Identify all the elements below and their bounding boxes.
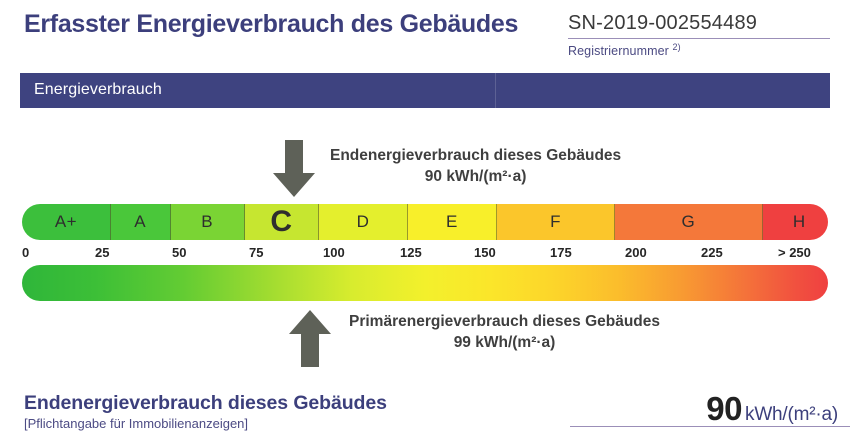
- footer-underline: [570, 426, 850, 427]
- energy-class-segment-g: G: [615, 204, 763, 240]
- scale-tick-label: 200: [625, 245, 647, 260]
- energy-class-letter: A+: [55, 212, 77, 232]
- energy-class-letter: C: [270, 205, 292, 239]
- section-header-label: Energieverbrauch: [34, 81, 162, 99]
- scale-tick-label: 100: [323, 245, 345, 260]
- section-band-divider: [495, 73, 496, 108]
- scale-tick-label: > 250: [778, 245, 811, 260]
- registration-number-label-text: Registriernummer: [568, 44, 669, 58]
- energy-class-segment-aplus: A+: [22, 204, 111, 240]
- scale-tick-label: 75: [249, 245, 263, 260]
- footer-value-block: 90kWh/(m²·a): [560, 390, 838, 428]
- page-title: Erfasster Energieverbrauch des Gebäudes: [24, 10, 518, 39]
- arrow-down-icon: [272, 140, 316, 198]
- energy-class-letter: H: [793, 212, 806, 232]
- section-header-band: Energieverbrauch: [20, 73, 830, 108]
- registration-number-block: SN-2019-002554489 Registriernummer 2): [568, 12, 836, 58]
- energy-class-scale: A+ABCDEFGH: [22, 204, 828, 240]
- energy-class-segment-f: F: [497, 204, 615, 240]
- primary-energy-annotation-value: 99 kWh/(m²·a): [349, 333, 660, 354]
- registration-number-underline: [568, 38, 830, 39]
- footer-value-number: 90: [706, 390, 742, 427]
- scale-tick-label: 175: [550, 245, 572, 260]
- scale-tick-label: 50: [172, 245, 186, 260]
- energy-class-segment-h: H: [763, 204, 828, 240]
- scale-tick-label: 0: [22, 245, 29, 260]
- footer-value-unit: kWh/(m²·a): [745, 404, 838, 425]
- scale-tick-label: 125: [400, 245, 422, 260]
- energy-class-segment-a: A: [111, 204, 171, 240]
- primary-energy-annotation: Primärenergieverbrauch dieses Gebäudes 9…: [349, 312, 660, 354]
- energy-class-letter: F: [550, 212, 561, 232]
- registration-number-value: SN-2019-002554489: [568, 12, 836, 37]
- registration-number-label: Registriernummer 2): [568, 42, 836, 58]
- primary-energy-annotation-title: Primärenergieverbrauch dieses Gebäudes: [349, 313, 660, 330]
- energy-class-segment-e: E: [408, 204, 497, 240]
- final-energy-annotation-value: 90 kWh/(m²·a): [330, 167, 621, 188]
- energy-class-segment-c: C: [245, 204, 319, 240]
- energy-class-letter: G: [682, 212, 696, 232]
- energy-class-letter: B: [201, 212, 213, 232]
- scale-tick-label: 225: [701, 245, 723, 260]
- energy-gradient-bar: [22, 265, 828, 301]
- energy-class-segment-b: B: [171, 204, 245, 240]
- energy-class-segment-d: D: [319, 204, 408, 240]
- arrow-up-icon: [288, 310, 332, 368]
- energy-class-letter: D: [357, 212, 370, 232]
- scale-tick-row: 0255075100125150175200225> 250: [0, 245, 850, 261]
- footer-title: Endenergieverbrauch dieses Gebäudes: [24, 392, 387, 415]
- footer-subtitle: [Pflichtangabe für Immobilienanzeigen]: [24, 416, 248, 431]
- energy-class-letter: E: [446, 212, 458, 232]
- scale-tick-label: 150: [474, 245, 496, 260]
- final-energy-annotation: Endenergieverbrauch dieses Gebäudes 90 k…: [330, 146, 621, 188]
- final-energy-annotation-title: Endenergieverbrauch dieses Gebäudes: [330, 147, 621, 164]
- scale-tick-label: 25: [95, 245, 109, 260]
- registration-number-footnote: 2): [673, 42, 681, 52]
- energy-class-letter: A: [134, 212, 146, 232]
